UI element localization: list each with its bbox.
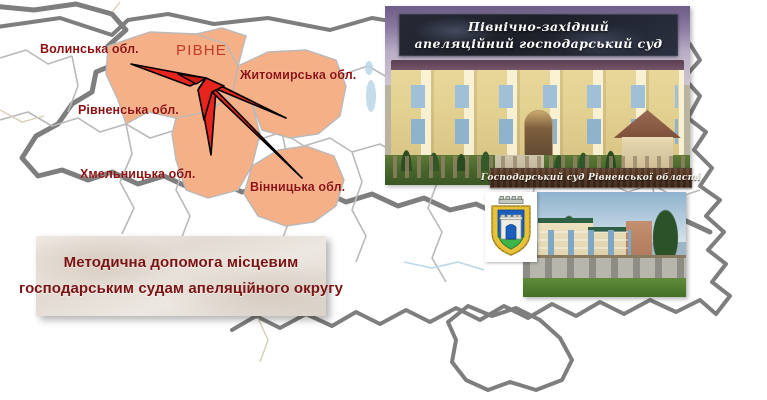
mural-crown	[499, 197, 523, 204]
castle-gate	[500, 215, 522, 239]
main-caption-box: Методична допомога місцевим господарськи…	[36, 236, 326, 316]
map-label-vinnytsia: Вінницька обл.	[250, 180, 345, 194]
appellate-court-title-line1: Північно-західний	[468, 18, 609, 35]
map-label-rivne-obl: Рівненська обл.	[78, 103, 179, 117]
coat-of-arms-icon	[488, 196, 534, 258]
local-court-caption-text: Господарський суд Рівненської області	[481, 173, 701, 183]
appellate-court-photo: Північно-західний апеляційний господарсь…	[385, 6, 690, 185]
map-label-city-rivne: РІВНЕ	[176, 42, 227, 59]
photo2-grass	[523, 278, 686, 297]
appellate-court-title-line2: апеляційний господарський суд	[415, 35, 663, 52]
local-court-caption-bar: Господарський суд Рівненської області	[490, 168, 692, 188]
local-court-photo	[523, 192, 686, 297]
slide-canvas: Волинська обл. Житомирська обл. Рівненсь…	[0, 0, 767, 400]
map-label-volyn: Волинська обл.	[40, 42, 139, 56]
map-label-khmelnytskyi: Хмельницька обл.	[80, 167, 196, 181]
photo-side-house-roof	[614, 110, 681, 138]
photo-windows-upper	[397, 85, 678, 108]
rivne-coat-of-arms	[485, 192, 537, 262]
main-caption-line2: господарським судам апеляційного округу	[19, 276, 343, 302]
photo2-fence	[523, 255, 686, 279]
map-label-zhytomyr: Житомирська обл.	[240, 68, 356, 82]
appellate-court-title-bar: Північно-західний апеляційний господарсь…	[399, 14, 679, 56]
main-caption-line1: Методична допомога місцевим	[64, 250, 299, 276]
